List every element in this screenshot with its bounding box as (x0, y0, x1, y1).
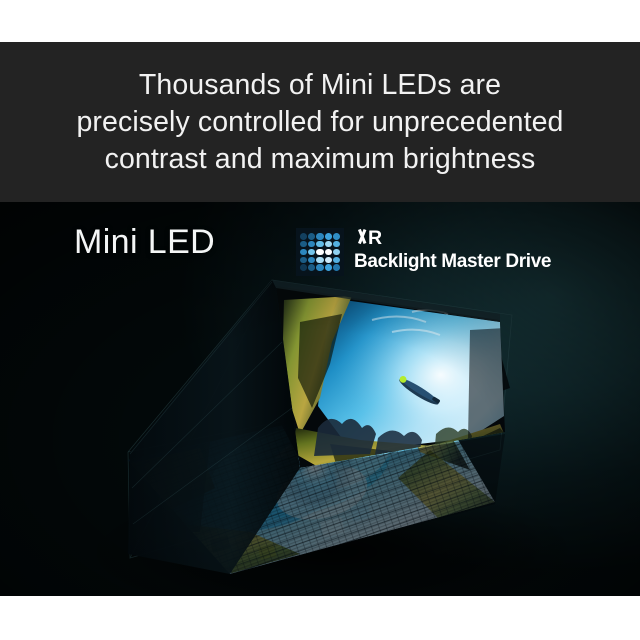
xr-dot-4-4 (333, 264, 340, 271)
xr-dot-2-0 (300, 249, 307, 256)
xr-dot-4-3 (325, 264, 332, 271)
backlight-master-drive-label: Backlight Master Drive (354, 250, 551, 273)
xr-r-glyph: R (368, 229, 381, 248)
xr-dot-0-3 (325, 233, 332, 240)
hero-panel: Mini LED R Backlight Master Drive (0, 202, 640, 596)
xr-dot-0-1 (308, 233, 315, 240)
xr-dot-2-2 (316, 249, 323, 256)
xr-wordmark: R (354, 229, 551, 248)
xr-logo-text: R Backlight Master Drive (354, 228, 551, 273)
xr-dot-1-0 (300, 241, 307, 248)
top-white-strip (0, 0, 640, 42)
xr-dot-3-3 (325, 257, 332, 264)
xr-dot-0-4 (333, 233, 340, 240)
xr-dot-3-1 (308, 257, 315, 264)
mini-led-label: Mini LED (74, 222, 215, 262)
xr-x-glyph (354, 229, 369, 244)
xr-dot-1-3 (325, 241, 332, 248)
xr-dot-0-2 (316, 233, 323, 240)
xr-dot-2-3 (325, 249, 332, 256)
bottom-white-strip (0, 596, 640, 640)
xr-dot-2-1 (308, 249, 315, 256)
xr-dot-4-0 (300, 264, 307, 271)
headline-text: Thousands of Mini LEDs are precisely con… (10, 67, 630, 178)
xr-dot-3-2 (316, 257, 323, 264)
xr-dot-3-4 (333, 257, 340, 264)
xr-backlight-master-drive-logo: R Backlight Master Drive (296, 228, 551, 276)
hero-label-row: Mini LED R Backlight Master Drive (0, 214, 640, 276)
xr-dot-1-2 (316, 241, 323, 248)
xr-dot-3-0 (300, 257, 307, 264)
xr-dot-2-4 (333, 249, 340, 256)
xr-dot-4-1 (308, 264, 315, 271)
headline-banner: Thousands of Mini LEDs are precisely con… (0, 42, 640, 202)
xr-dot-4-2 (316, 264, 323, 271)
xr-dot-1-4 (333, 241, 340, 248)
xr-dot-matrix-icon (296, 228, 344, 276)
xr-dot-1-1 (308, 241, 315, 248)
xr-dot-0-0 (300, 233, 307, 240)
product-feature-image: Thousands of Mini LEDs are precisely con… (0, 0, 640, 640)
